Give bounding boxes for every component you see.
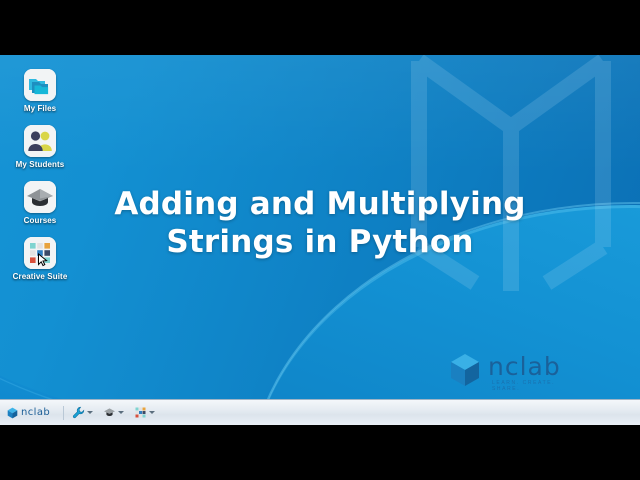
color-grid-icon [134, 406, 147, 419]
wrench-icon [72, 406, 85, 419]
graduation-cap-icon [103, 406, 116, 419]
taskbar-separator [63, 406, 64, 420]
chevron-down-icon[interactable] [87, 411, 93, 414]
nclab-cube-icon [448, 352, 482, 388]
desktop-icon-label: My Students [6, 160, 74, 169]
graduation-cap-icon [24, 181, 56, 213]
folders-icon [24, 69, 56, 101]
start-button[interactable]: nclab [4, 405, 55, 421]
taskbar-item-creative-suite[interactable] [132, 404, 157, 422]
people-icon [24, 125, 56, 157]
taskbar-item-courses[interactable] [101, 404, 126, 422]
start-button-label: nclab [21, 407, 50, 418]
letterbox-top [0, 0, 640, 55]
taskbar[interactable]: nclab [0, 399, 640, 425]
chevron-down-icon[interactable] [118, 411, 124, 414]
chevron-down-icon[interactable] [149, 411, 155, 414]
nclab-tagline: LEARN. CREATE. SHARE. [492, 380, 578, 392]
letterbox-bottom [0, 425, 640, 480]
nclab-wordmark: nclab [488, 354, 561, 379]
desktop-icon-label: Creative Suite [6, 272, 74, 281]
slide-title-line-1: Adding and Multiplying [114, 186, 525, 222]
video-frame: My Files My Students [0, 0, 640, 480]
slide-title: Adding and Multiplying Strings in Python [60, 185, 580, 261]
desktop[interactable]: My Files My Students [0, 55, 640, 425]
color-grid-icon [24, 237, 56, 269]
nclab-cube-icon [7, 407, 18, 419]
slide-title-line-2: Strings in Python [60, 223, 580, 261]
desktop-icon-my-files[interactable]: My Files [6, 69, 74, 113]
taskbar-item-tools[interactable] [70, 404, 95, 422]
desktop-icon-label: My Files [6, 104, 74, 113]
nclab-logo: nclab LEARN. CREATE. SHARE. [448, 352, 578, 394]
desktop-icon-my-students[interactable]: My Students [6, 125, 74, 169]
